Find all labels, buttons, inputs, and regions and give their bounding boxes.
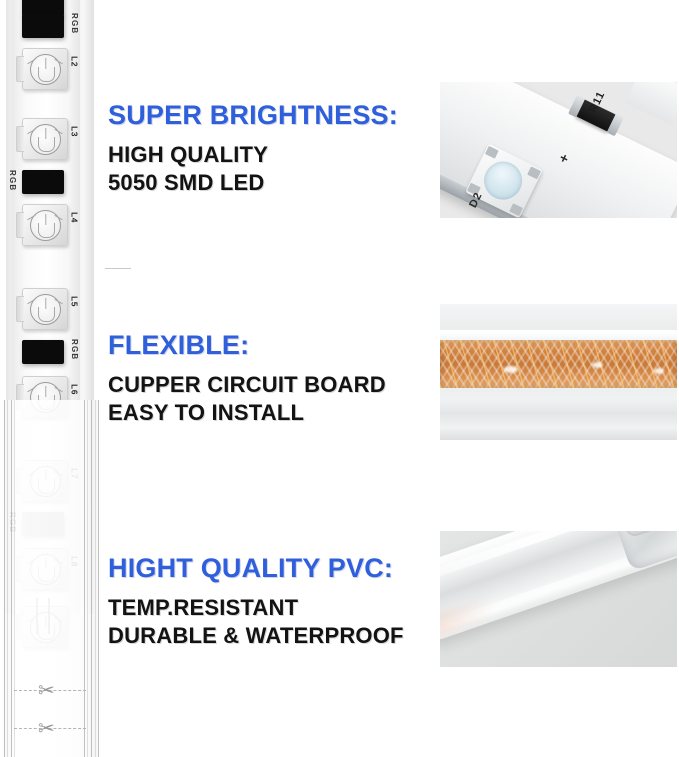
- feature-heading: FLEXIBLE:: [108, 330, 386, 361]
- tube-cut-face: [620, 531, 677, 539]
- solder-pad: [485, 146, 499, 159]
- feature-block-brightness: SUPER BRIGHTNESS: HIGH QUALITY 5050 SMD …: [108, 100, 398, 196]
- rgb-driver-chip: [22, 340, 64, 364]
- specular-highlight: [654, 368, 664, 374]
- feature-heading: HIGHT QUALITY PVC:: [108, 553, 404, 584]
- feature-body: HIGH QUALITY 5050 SMD LED: [108, 142, 398, 196]
- sleeve-highlight: [440, 330, 677, 343]
- scissors-icon: ✂: [38, 679, 55, 703]
- feature-block-pvc: HIGHT QUALITY PVC: TEMP.RESISTANT DURABL…: [108, 553, 404, 649]
- led-package-l2: [22, 48, 68, 90]
- led-package-l4: [22, 204, 68, 246]
- feature-line: HIGH QUALITY: [108, 142, 398, 168]
- feature-line: 5050 SMD LED: [108, 170, 398, 196]
- feature-line: DURABLE & WATERPROOF: [108, 623, 404, 649]
- led-label-l4: L4: [70, 212, 79, 223]
- led-label-l6: L6: [70, 384, 79, 395]
- sleeve-lower-body: [440, 412, 677, 440]
- rgb-chip-label: RGB: [8, 170, 16, 191]
- led-package-l5: [22, 288, 68, 330]
- section-divider: [105, 268, 131, 269]
- led-phosphor-cup: [478, 155, 529, 206]
- rgb-driver-chip: [22, 170, 64, 194]
- led-strip-illustration: RGB L2 L3 RGB L4 L5 RGB: [0, 0, 104, 757]
- rgb-driver-chip: [22, 14, 64, 38]
- feature-block-flexible: FLEXIBLE: CUPPER CIRCUIT BOARD EASY TO I…: [108, 330, 386, 426]
- photo-panel-smd-led: R11 + D2: [440, 82, 677, 218]
- solder-pad: [527, 166, 541, 179]
- cut-mark: ✂: [14, 716, 86, 742]
- feature-body: TEMP.RESISTANT DURABLE & WATERPROOF: [108, 595, 404, 649]
- infographic-page: RGB L2 L3 RGB L4 L5 RGB: [0, 0, 679, 757]
- led-package-l3: [22, 118, 68, 160]
- rgb-chip-label: RGB: [70, 339, 78, 360]
- photo-panel-pvc-tube: [440, 531, 677, 667]
- feature-line: EASY TO INSTALL: [108, 400, 386, 426]
- feature-line: CUPPER CIRCUIT BOARD: [108, 372, 386, 398]
- feature-body: CUPPER CIRCUIT BOARD EASY TO INSTALL: [108, 372, 386, 426]
- cut-mark: ✂: [14, 678, 86, 704]
- solder-pad: [509, 203, 523, 216]
- led-label-l2: L2: [70, 56, 79, 67]
- scissors-icon: ✂: [38, 717, 55, 741]
- specular-highlight: [504, 366, 518, 373]
- rgb-chip-label: RGB: [70, 13, 78, 34]
- led-label-l5: L5: [70, 296, 79, 307]
- led-label-l3: L3: [70, 126, 79, 137]
- feature-line: TEMP.RESISTANT: [108, 595, 404, 621]
- feature-heading: SUPER BRIGHTNESS:: [108, 100, 398, 131]
- photo-panel-copper-board: [440, 304, 677, 440]
- copper-braid-photo: [440, 340, 677, 388]
- specular-highlight: [592, 362, 603, 368]
